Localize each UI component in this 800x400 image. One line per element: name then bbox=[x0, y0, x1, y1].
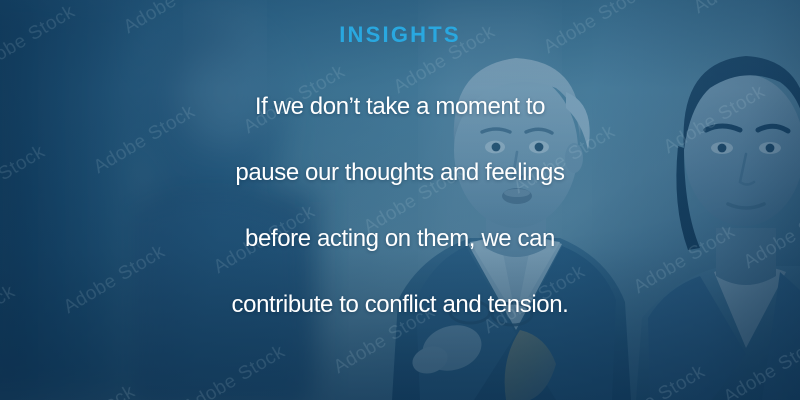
quote-line: contribute to conflict and tension. bbox=[5, 272, 795, 338]
card-content: INSIGHTS If we don’t take a moment to pa… bbox=[0, 0, 800, 400]
quote-line: If we don’t take a moment to bbox=[5, 74, 795, 140]
insights-quote-card: Adobe StockAdobe StockAdobe StockAdobe S… bbox=[0, 0, 800, 400]
quote-line: before acting on them, we can bbox=[5, 206, 795, 272]
eyebrow-label: INSIGHTS bbox=[339, 24, 461, 46]
quote-text: If we don’t take a moment to pause our t… bbox=[5, 74, 795, 338]
quote-line: pause our thoughts and feelings bbox=[5, 140, 795, 206]
